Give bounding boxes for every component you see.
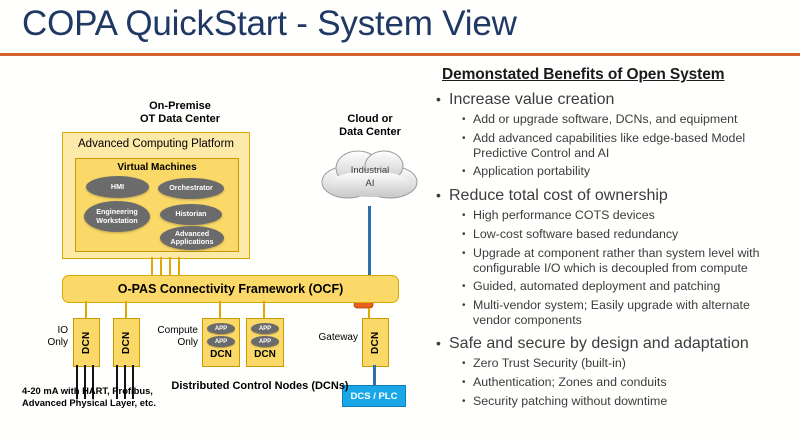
benefit-item: • Guided, automated deployment and patch… <box>462 279 792 295</box>
benefit-item-2-4: Guided, automated deployment and patchin… <box>473 279 720 294</box>
bullet-glyph: • <box>462 208 473 224</box>
bullet-glyph: • <box>462 356 473 372</box>
acp-ocf-stem-4 <box>178 257 180 276</box>
benefit-group-title: • Safe and secure by design and adaptati… <box>436 334 792 353</box>
app-pill: APP <box>207 336 235 347</box>
advanced-computing-platform-box: Advanced Computing Platform Virtual Mach… <box>62 132 250 259</box>
system-diagram: On-Premise OT Data Center Cloud or Data … <box>0 60 436 446</box>
benefit-group-title: • Increase value creation <box>436 90 792 109</box>
ocf-drop-compute1 <box>219 301 221 319</box>
cloud-heading-line1: Cloud or <box>320 113 420 126</box>
compute-only-label-line1: Compute <box>148 325 198 337</box>
benefit-group-title: • Reduce total cost of ownership <box>436 186 792 205</box>
app-pill: APP <box>207 323 235 334</box>
on-premise-heading: On-Premise OT Data Center <box>100 100 260 126</box>
benefit-item: • Application portability <box>462 164 792 180</box>
benefit-group-3-title: Safe and secure by design and adaptation <box>449 334 749 353</box>
compute-dcn-node-2: APP APP DCN <box>246 318 284 367</box>
app-pill: APP <box>251 323 279 334</box>
benefit-group-2-title: Reduce total cost of ownership <box>449 186 668 205</box>
cloud-shape: Industrial AI <box>318 142 422 208</box>
gateway-dcsplc-link <box>373 365 376 387</box>
benefit-item: • Add advanced capabilities like edge-ba… <box>462 131 792 161</box>
bullet-glyph: • <box>462 298 473 314</box>
benefit-item-2-2: Low-cost software based redundancy <box>473 227 678 242</box>
ocf-drop-dcn1 <box>85 301 87 319</box>
compute-dcn-node-2-label: DCN <box>247 349 283 360</box>
ocf-bar: O-PAS Connectivity Framework (OCF) <box>62 275 399 303</box>
bullet-glyph: • <box>436 186 449 205</box>
field-protocol-note-line1: 4-20 mA with HART, Profibus, <box>22 385 252 397</box>
benefit-item-2-3: Upgrade at component rather than system … <box>473 246 791 276</box>
benefit-item-1-3: Application portability <box>473 164 590 179</box>
on-premise-heading-line2: OT Data Center <box>100 113 260 126</box>
app-pill: APP <box>251 336 279 347</box>
bullet-glyph: • <box>462 164 473 180</box>
cloud-label-line2: AI <box>318 177 422 190</box>
benefit-group-1-title: Increase value creation <box>449 90 614 109</box>
benefit-item: • Security patching without downtime <box>462 394 792 410</box>
benefit-item: • Multi-vendor system; Easily upgrade wi… <box>462 298 792 328</box>
gateway-dcn-node: DCN <box>362 318 389 367</box>
bullet-glyph: • <box>462 246 473 262</box>
slide-canvas: COPA QuickStart - System View On-Premise… <box>0 0 800 446</box>
gateway-dcn-node-label: DCN <box>363 319 388 366</box>
bullet-glyph: • <box>462 227 473 243</box>
benefit-item: • Zero Trust Security (built-in) <box>462 356 792 372</box>
bullet-glyph: • <box>462 375 473 391</box>
acp-ocf-stem-2 <box>160 257 162 276</box>
bullet-glyph: • <box>462 112 473 128</box>
benefit-item: • High performance COTS devices <box>462 208 792 224</box>
advanced-computing-platform-label: Advanced Computing Platform <box>63 138 249 150</box>
ocf-drop-dcn2 <box>125 301 127 319</box>
benefit-item-1-2: Add advanced capabilities like edge-base… <box>473 131 791 161</box>
io-only-label: IO Only <box>22 325 68 349</box>
acp-ocf-stem-1 <box>151 257 153 276</box>
benefit-item: • Authentication; Zones and conduits <box>462 375 792 391</box>
acp-ocf-stem-3 <box>169 257 171 276</box>
vm-advanced-applications: Advanced Applications <box>160 226 224 250</box>
bullet-glyph: • <box>462 131 473 147</box>
dcn-node-io-2: DCN <box>113 318 140 367</box>
benefit-item-3-3: Security patching without downtime <box>473 394 667 409</box>
benefits-panel: Demonstated Benefits of Open System • In… <box>436 66 792 410</box>
benefit-item-2-5: Multi-vendor system; Easily upgrade with… <box>473 298 791 328</box>
cloud-heading-line2: Data Center <box>320 126 420 139</box>
dcn-node-io-2-label: DCN <box>114 319 139 366</box>
vm-orchestrator: Orchestrator <box>158 178 224 199</box>
benefit-item: • Add or upgrade software, DCNs, and equ… <box>462 112 792 128</box>
vm-engineering-workstation: Engineering Workstation <box>84 201 150 232</box>
benefit-item-2-1: High performance COTS devices <box>473 208 655 223</box>
benefit-item: • Low-cost software based redundancy <box>462 227 792 243</box>
io-only-label-line2: Only <box>22 337 68 349</box>
compute-only-label-line2: Only <box>148 337 198 349</box>
virtual-machines-label: Virtual Machines <box>76 162 238 173</box>
compute-dcn-node-1-label: DCN <box>203 349 239 360</box>
vm-historian: Historian <box>160 204 222 225</box>
compute-only-label: Compute Only <box>148 325 198 349</box>
benefit-item-3-1: Zero Trust Security (built-in) <box>473 356 626 371</box>
cloud-heading: Cloud or Data Center <box>320 113 420 139</box>
cloud-label-line1: Industrial <box>318 164 422 177</box>
benefit-item-3-2: Authentication; Zones and conduits <box>473 375 667 390</box>
bullet-glyph: • <box>436 90 449 109</box>
field-protocol-note: 4-20 mA with HART, Profibus, Advanced Ph… <box>22 385 252 409</box>
dcn-node-io-1: DCN <box>73 318 100 367</box>
bullet-glyph: • <box>462 279 473 295</box>
on-premise-heading-line1: On-Premise <box>100 100 260 113</box>
virtual-machines-box: Virtual Machines HMI Orchestrator Engine… <box>75 158 239 252</box>
field-protocol-note-line2: Advanced Physical Layer, etc. <box>22 397 252 409</box>
compute-dcn-node-1: APP APP DCN <box>202 318 240 367</box>
benefit-item-1-1: Add or upgrade software, DCNs, and equip… <box>473 112 737 127</box>
cloud-label: Industrial AI <box>318 164 422 190</box>
benefit-item: • Upgrade at component rather than syste… <box>462 246 792 276</box>
gateway-label: Gateway <box>302 332 358 344</box>
io-only-label-line1: IO <box>22 325 68 337</box>
dcn-node-io-1-label: DCN <box>74 319 99 366</box>
benefits-heading: Demonstated Benefits of Open System <box>442 66 792 84</box>
ocf-drop-compute2 <box>263 301 265 319</box>
page-title: COPA QuickStart - System View <box>22 2 517 46</box>
title-divider <box>0 53 800 56</box>
vm-hmi: HMI <box>86 176 149 198</box>
bullet-glyph: • <box>462 394 473 410</box>
bullet-glyph: • <box>436 334 449 353</box>
